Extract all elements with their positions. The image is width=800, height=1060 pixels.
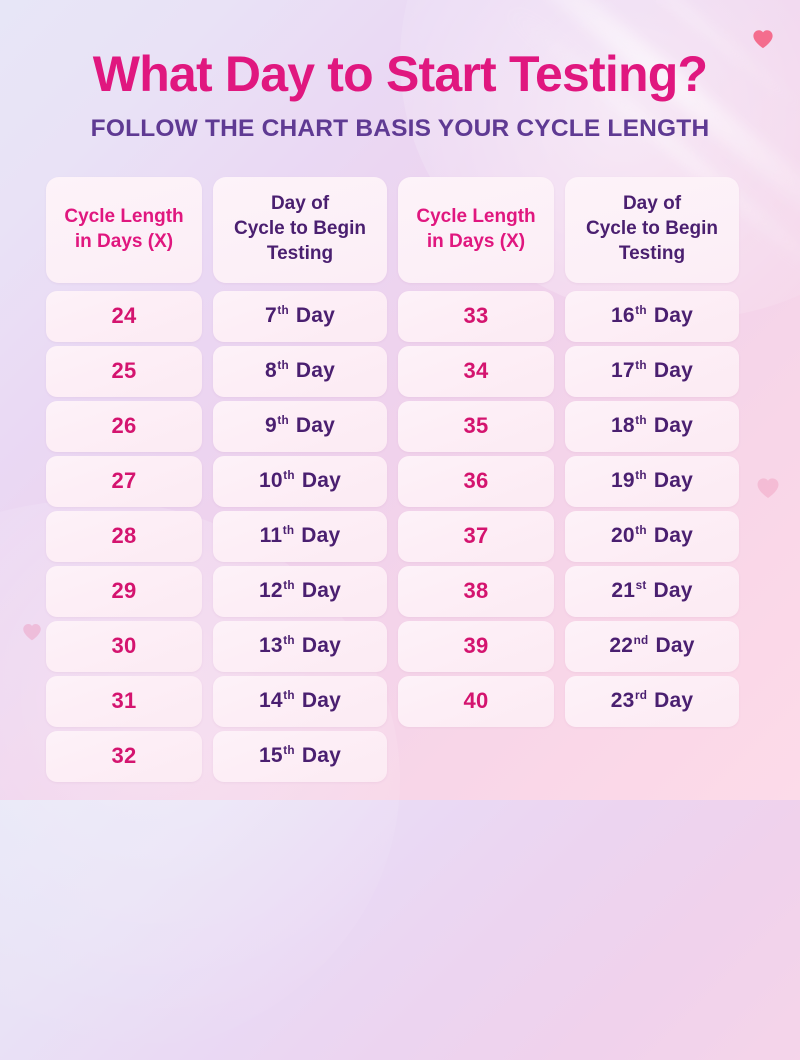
cycle-length-value: 34 [463,358,488,384]
cycle-length-value: 39 [463,633,488,659]
begin-testing-day-value: 23rd Day [611,689,694,713]
cycle-length-value: 35 [463,413,488,439]
begin-testing-day-cell-left-2: 9th Day [213,401,387,452]
begin-testing-day-value: 20th Day [611,524,693,548]
begin-testing-day-cell-right-4: 20th Day [565,511,739,562]
table-header-line: Testing [267,242,333,267]
cycle-length-value: 40 [463,688,488,714]
begin-testing-day-cell-left-0: 7th Day [213,291,387,342]
cycle-length-cell-left-0: 24 [46,291,202,342]
table-row: 3013th Day3922nd Day [46,621,754,672]
cycle-length-value: 29 [111,578,136,604]
cycle-length-value: 24 [111,303,136,329]
cycle-length-cell-right-4: 37 [398,511,554,562]
table-row: 258th Day3417th Day [46,346,754,397]
begin-testing-day-value: 21st Day [611,579,692,603]
begin-testing-day-value: 22nd Day [609,634,694,658]
table-header-row: Cycle Lengthin Days (X)Day ofCycle to Be… [46,177,754,283]
table-header-line: in Days (X) [75,230,173,255]
cycle-length-value: 30 [111,633,136,659]
begin-testing-day-cell-right-6: 22nd Day [565,621,739,672]
table-header-line: Testing [619,242,685,267]
cycle-length-cell-right-2: 35 [398,401,554,452]
table-header-line: Day of [271,192,329,217]
begin-testing-day-value: 18th Day [611,414,693,438]
table-row: 2710th Day3619th Day [46,456,754,507]
table-row: 2811th Day3720th Day [46,511,754,562]
begin-testing-day-value: 9th Day [265,414,335,438]
begin-testing-day-value: 15th Day [259,744,341,768]
begin-testing-day-value: 10th Day [259,469,341,493]
cycle-length-cell-left-4: 28 [46,511,202,562]
begin-testing-day-cell-left-5: 12th Day [213,566,387,617]
cycle-length-cell-left-8: 32 [46,731,202,782]
cycle-length-cell-right-6: 39 [398,621,554,672]
table-header-line: in Days (X) [427,230,525,255]
begin-testing-day-value: 7th Day [265,304,335,328]
table-body: 247th Day3316th Day258th Day3417th Day26… [46,291,754,782]
cycle-length-cell-left-1: 25 [46,346,202,397]
begin-testing-day-value: 19th Day [611,469,693,493]
cycle-length-value: 36 [463,468,488,494]
table-header-line: Cycle to Begin [234,217,366,242]
cycle-length-value: 28 [111,523,136,549]
table-row: 3215th Day [46,731,754,782]
cycle-length-cell-right-3: 36 [398,456,554,507]
table-header-cell-4: Day ofCycle to BeginTesting [565,177,739,283]
table-row: 247th Day3316th Day [46,291,754,342]
page-subtitle: FOLLOW THE CHART BASIS YOUR CYCLE LENGTH [0,115,800,143]
begin-testing-day-value: 13th Day [259,634,341,658]
table-cell-empty [398,731,554,782]
table-header-line: Cycle Length [64,205,183,230]
table-header-line: Day of [623,192,681,217]
cycle-length-cell-left-7: 31 [46,676,202,727]
table-row: 3114th Day4023rd Day [46,676,754,727]
begin-testing-day-cell-right-7: 23rd Day [565,676,739,727]
cycle-length-cell-left-5: 29 [46,566,202,617]
begin-testing-day-cell-right-5: 21st Day [565,566,739,617]
table-row: 2912th Day3821st Day [46,566,754,617]
cycle-length-value: 38 [463,578,488,604]
table-header-line: Cycle Length [416,205,535,230]
begin-testing-day-cell-left-4: 11th Day [213,511,387,562]
cycle-length-cell-left-2: 26 [46,401,202,452]
cycle-length-cell-right-5: 38 [398,566,554,617]
begin-testing-day-cell-right-3: 19th Day [565,456,739,507]
heart-left-lower-icon [22,622,42,642]
cycle-length-cell-right-0: 33 [398,291,554,342]
begin-testing-day-value: 16th Day [611,304,693,328]
begin-testing-day-cell-left-8: 15th Day [213,731,387,782]
begin-testing-day-cell-left-7: 14th Day [213,676,387,727]
begin-testing-day-value: 17th Day [611,359,693,383]
begin-testing-day-value: 14th Day [259,689,341,713]
table-header-cell-1: Cycle Lengthin Days (X) [46,177,202,283]
table-header-cell-2: Day ofCycle to BeginTesting [213,177,387,283]
cycle-length-value: 31 [111,688,136,714]
cycle-length-value: 27 [111,468,136,494]
table-header-line: Cycle to Begin [586,217,718,242]
cycle-length-value: 32 [111,743,136,769]
page-title: What Day to Start Testing? [0,48,800,101]
table-cell-empty [565,731,739,782]
begin-testing-day-cell-left-1: 8th Day [213,346,387,397]
begin-testing-day-cell-right-2: 18th Day [565,401,739,452]
begin-testing-day-cell-left-6: 13th Day [213,621,387,672]
begin-testing-day-cell-right-0: 16th Day [565,291,739,342]
cycle-length-value: 26 [111,413,136,439]
cycle-length-value: 25 [111,358,136,384]
cycle-length-cell-right-1: 34 [398,346,554,397]
cycle-length-cell-left-3: 27 [46,456,202,507]
begin-testing-day-value: 12th Day [259,579,341,603]
begin-testing-day-cell-left-3: 10th Day [213,456,387,507]
cycle-length-cell-left-6: 30 [46,621,202,672]
begin-testing-day-value: 11th Day [260,524,341,548]
cycle-testing-table: Cycle Lengthin Days (X)Day ofCycle to Be… [46,177,754,782]
begin-testing-day-cell-right-1: 17th Day [565,346,739,397]
cycle-length-cell-right-7: 40 [398,676,554,727]
heart-right-middle-icon [756,476,780,500]
table-header-cell-3: Cycle Lengthin Days (X) [398,177,554,283]
table-row: 269th Day3518th Day [46,401,754,452]
begin-testing-day-value: 8th Day [265,359,335,383]
page-header: What Day to Start Testing? FOLLOW THE CH… [0,0,800,143]
cycle-length-value: 37 [463,523,488,549]
cycle-length-value: 33 [463,303,488,329]
